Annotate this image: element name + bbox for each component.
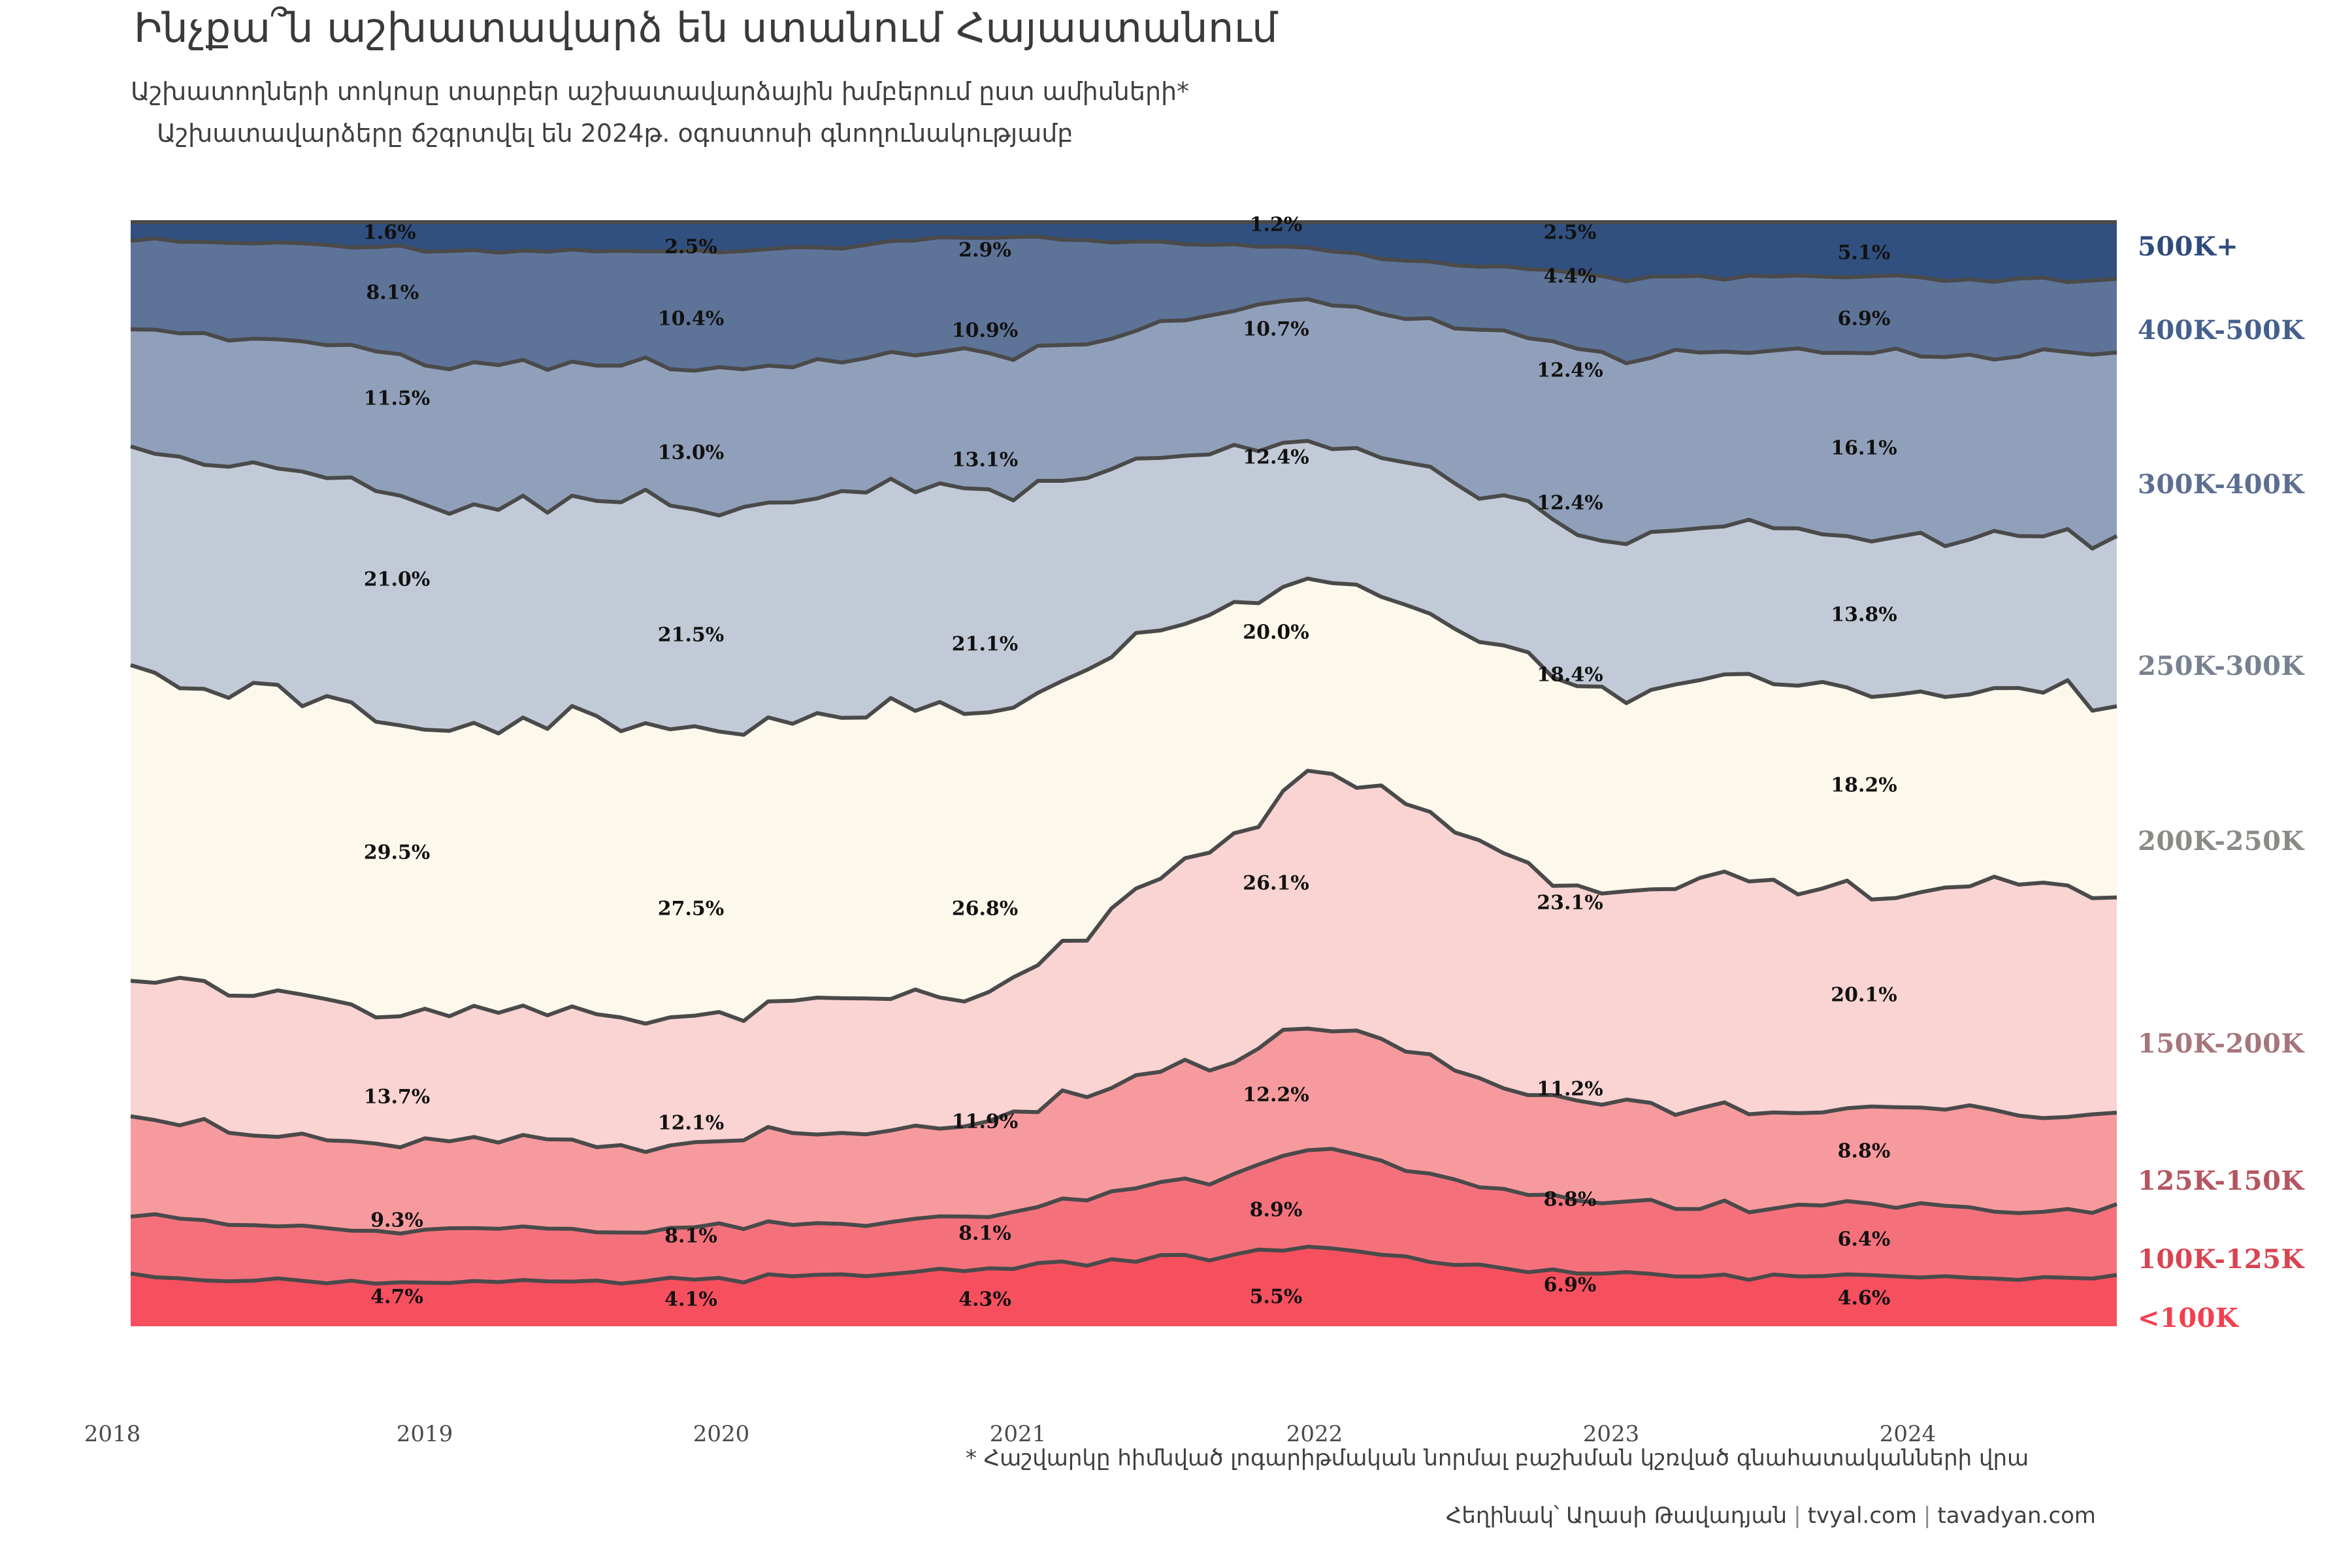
data-label: 4.7%	[370, 1285, 423, 1308]
data-label: 6.4%	[1838, 1228, 1891, 1250]
x-axis-tick-2022: 2022	[1286, 1421, 1343, 1447]
data-label: 12.1%	[658, 1112, 725, 1135]
data-label: 11.5%	[364, 387, 431, 410]
x-axis-tick-2024: 2024	[1880, 1421, 1936, 1447]
data-label: 13.1%	[952, 449, 1019, 472]
data-label: 9.3%	[370, 1209, 423, 1232]
data-label: 18.2%	[1831, 774, 1897, 796]
site-tavadyan[interactable]: tavadyan.com	[1937, 1503, 2096, 1529]
data-label: 12.2%	[1243, 1084, 1309, 1107]
data-label: 2.5%	[664, 236, 717, 259]
data-label: 12.4%	[1537, 491, 1603, 514]
chart-page: Ինչքա՞ն աշխատավարձ են ստանում Հայաստանու…	[0, 0, 2352, 1568]
data-label: 29.5%	[364, 841, 431, 864]
data-label: 11.9%	[952, 1110, 1019, 1133]
legend-item-125k-150k[interactable]: 125K-150K	[2138, 1166, 2304, 1196]
data-label: 16.1%	[1831, 437, 1897, 460]
data-label: 12.4%	[1243, 446, 1309, 468]
data-label: 23.1%	[1537, 891, 1603, 914]
data-label: 4.3%	[958, 1288, 1011, 1311]
data-label: 4.6%	[1838, 1286, 1891, 1309]
stacked-area-chart	[0, 0, 2352, 1568]
data-label: 26.1%	[1243, 872, 1309, 895]
data-label: 21.0%	[364, 568, 431, 591]
data-label: 20.0%	[1243, 621, 1309, 644]
legend-item-100k[interactable]: <100K	[2138, 1303, 2238, 1333]
site-tvyal[interactable]: tvyal.com	[1808, 1503, 1917, 1529]
data-label: 13.0%	[658, 442, 725, 465]
data-label: 8.1%	[366, 281, 419, 304]
data-label: 21.1%	[952, 632, 1019, 655]
data-label: 2.9%	[958, 238, 1011, 261]
data-label: 10.9%	[952, 319, 1019, 342]
legend-item-400k-500k[interactable]: 400K-500K	[2138, 315, 2304, 346]
credit-separator-1: |	[1787, 1503, 1807, 1529]
data-label: 6.9%	[1544, 1273, 1597, 1296]
x-axis-tick-2019: 2019	[397, 1421, 453, 1447]
data-label: 13.8%	[1831, 603, 1897, 626]
legend-item-100k-125k[interactable]: 100K-125K	[2138, 1244, 2304, 1275]
data-label: 8.8%	[1838, 1139, 1891, 1162]
x-axis-tick-2021: 2021	[990, 1421, 1047, 1447]
data-label: 10.7%	[1243, 318, 1309, 341]
legend-item-300k-400k[interactable]: 300K-400K	[2138, 469, 2304, 500]
data-label: 4.1%	[664, 1288, 717, 1311]
data-label: 20.1%	[1831, 984, 1897, 1007]
data-label: 21.5%	[658, 624, 725, 647]
data-label: 5.5%	[1250, 1285, 1303, 1308]
footnote: * Հաշվարկը հիմնված լոգարիթմական նորմալ բ…	[966, 1445, 2029, 1471]
data-label: 4.4%	[1544, 265, 1597, 288]
legend-item-150k-200k[interactable]: 150K-200K	[2138, 1028, 2304, 1059]
author-name: Հեղինակ՝ Աղասի Թավադյան	[1446, 1503, 1787, 1529]
data-label: 26.8%	[952, 897, 1019, 920]
data-label: 1.2%	[1250, 214, 1303, 237]
data-label: 6.9%	[1838, 308, 1891, 331]
legend-item-250k-300k[interactable]: 250K-300K	[2138, 651, 2304, 681]
data-label: 13.7%	[364, 1085, 431, 1108]
data-label: 1.6%	[363, 221, 416, 244]
data-label: 8.1%	[958, 1222, 1011, 1245]
data-label: 5.1%	[1838, 242, 1891, 265]
data-label: 2.5%	[1544, 221, 1597, 244]
data-label: 11.2%	[1537, 1078, 1603, 1101]
data-label: 10.4%	[658, 308, 725, 331]
data-label: 8.8%	[1544, 1188, 1597, 1211]
data-label: 8.1%	[664, 1225, 717, 1248]
plot-area	[0, 0, 2352, 1568]
x-axis-tick-2023: 2023	[1583, 1421, 1640, 1447]
data-label: 18.4%	[1537, 663, 1603, 686]
legend-item-200k-250k[interactable]: 200K-250K	[2138, 826, 2304, 857]
data-label: 8.9%	[1250, 1198, 1303, 1221]
x-axis-tick-2018: 2018	[84, 1421, 141, 1447]
legend-item-500k[interactable]: 500K+	[2138, 231, 2238, 262]
credit-line: Հեղինակ՝ Աղասի Թավադյան|tvyal.com|tavady…	[1446, 1503, 2096, 1529]
x-axis-tick-2020: 2020	[693, 1421, 750, 1447]
data-label: 27.5%	[658, 897, 725, 920]
credit-separator-2: |	[1917, 1503, 1937, 1529]
data-label: 12.4%	[1537, 359, 1603, 382]
